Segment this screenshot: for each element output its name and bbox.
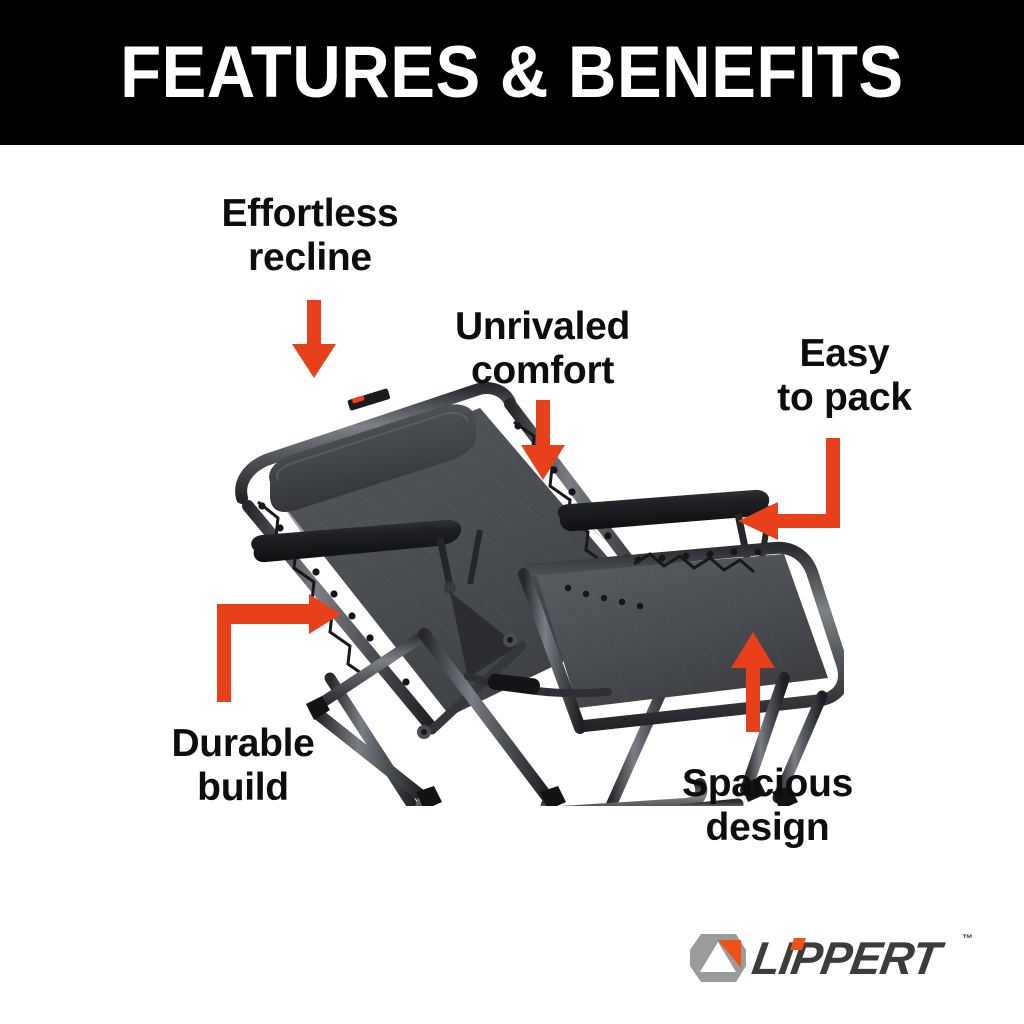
callout-label-easy-to-pack: Easy to pack xyxy=(752,332,937,421)
trademark-symbol: ™ xyxy=(962,933,973,945)
arrow-down-icon-effortless-recline xyxy=(286,300,342,383)
infographic-page: FEATURES & BENEFITS xyxy=(0,0,1024,1024)
arrow-down-icon-unrivaled-comfort xyxy=(515,400,571,485)
page-title: FEATURES & BENEFITS xyxy=(120,36,904,109)
callout-label-spacious-design: Spacious design xyxy=(650,762,885,851)
lippert-logo: LIPPERT ™ xyxy=(684,926,976,988)
lippert-hex-mark xyxy=(690,934,746,982)
header-banner: FEATURES & BENEFITS xyxy=(0,0,1024,145)
lippert-wordmark-text: LIPPERT xyxy=(749,932,948,984)
callout-label-unrivaled-comfort: Unrivaled comfort xyxy=(425,305,660,394)
arrow-elbow-up-right-icon-durable-build xyxy=(217,594,341,709)
callout-label-effortless-recline: Effortless recline xyxy=(185,192,435,281)
arrow-up-icon-spacious-design xyxy=(725,632,781,737)
callout-label-durable-build: Durable build xyxy=(128,722,358,811)
arrow-elbow-down-left-icon-easy-to-pack xyxy=(738,436,840,545)
